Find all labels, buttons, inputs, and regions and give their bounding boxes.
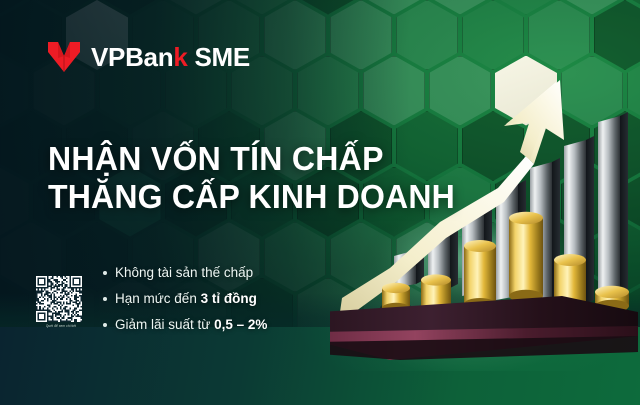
brand-wordmark: VPBank SME [91,42,250,73]
list-item: Giảm lãi suất từ 0,5 – 2% [103,314,267,335]
bullet-dot-icon [103,323,107,327]
brand-logo[interactable]: VPBank SME [46,40,250,74]
vpbank-sme-banner: VPBank SME NHẬN VỐN TÍN CHẤP THĂNG CẤP K… [0,0,640,405]
headline-line-2: THĂNG CẤP KINH DOANH [48,178,455,216]
benefits-list: Không tài sản thế chấp Hạn mức đến 3 tỉ … [103,262,267,340]
list-item: Không tài sản thế chấp [103,262,267,283]
benefit-text-1: Hạn mức đến 3 tỉ đồng [115,292,257,306]
benefit-text-0: Không tài sản thế chấp [115,266,253,280]
qr-code-block[interactable]: Quét để xem chi tiết [36,276,86,328]
headline-line-1: NHẬN VỐN TÍN CHẤP [48,140,455,178]
bullet-dot-icon [103,297,107,301]
vpbank-tulip-icon [46,40,82,74]
brand-name-primary: VPBank [91,42,187,72]
display-platform [330,296,638,360]
list-item: Hạn mức đến 3 tỉ đồng [103,288,267,309]
page-title: NHẬN VỐN TÍN CHẤP THĂNG CẤP KINH DOANH [48,140,455,215]
qr-caption: Quét để xem chi tiết [36,324,86,328]
benefit-text-2: Giảm lãi suất từ 0,5 – 2% [115,318,267,332]
bullet-dot-icon [103,271,107,275]
brand-name-secondary: SME [194,42,249,73]
qr-code[interactable] [36,276,82,322]
